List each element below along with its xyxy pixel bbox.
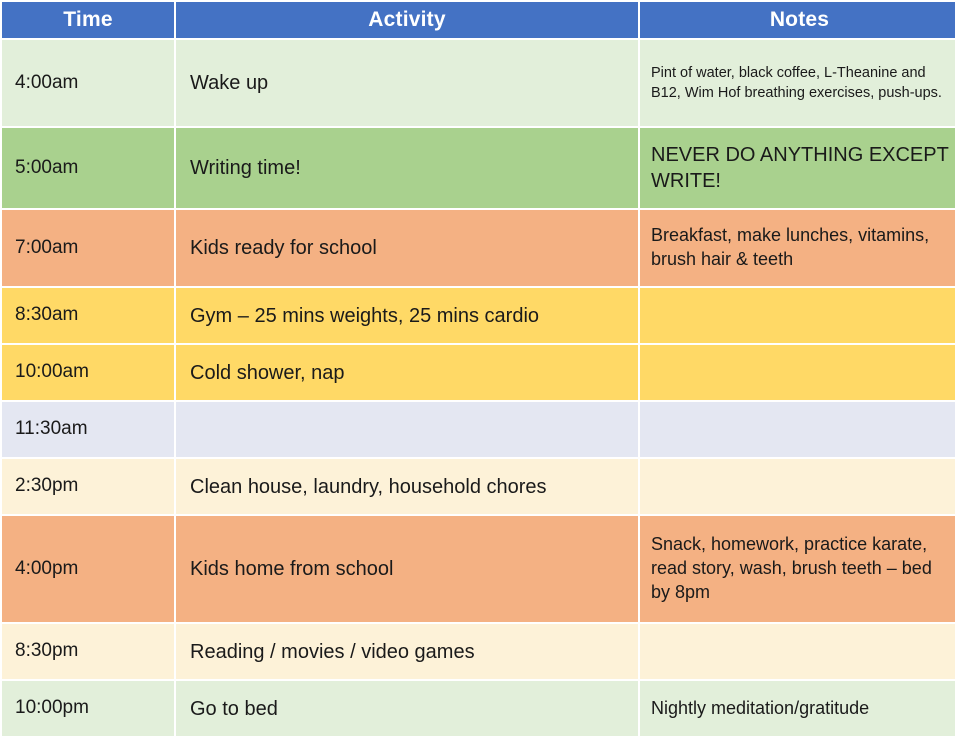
- table-row: 11:30am: [2, 402, 955, 457]
- table-row: 10:00pm Go to bed Nightly meditation/gra…: [2, 681, 955, 736]
- table-body: 4:00am Wake up Pint of water, black coff…: [2, 40, 955, 736]
- cell-notes: [640, 345, 955, 400]
- cell-notes: Snack, homework, practice karate, read s…: [640, 516, 955, 622]
- cell-notes: Nightly meditation/gratitude: [640, 681, 955, 736]
- cell-time: 4:00am: [2, 40, 174, 126]
- cell-activity: Kids home from school: [176, 516, 638, 622]
- cell-notes: [640, 288, 955, 343]
- cell-time: 2:30pm: [2, 459, 174, 514]
- table-row: 4:00pm Kids home from school Snack, home…: [2, 516, 955, 622]
- table-row: 8:30pm Reading / movies / video games: [2, 624, 955, 679]
- column-header-time: Time: [2, 2, 174, 38]
- table-header: Time Activity Notes: [2, 2, 955, 38]
- cell-time: 10:00pm: [2, 681, 174, 736]
- header-row: Time Activity Notes: [2, 2, 955, 38]
- cell-notes: NEVER DO ANYTHING EXCEPT WRITE!: [640, 128, 955, 208]
- cell-activity: Wake up: [176, 40, 638, 126]
- table-row: 7:00am Kids ready for school Breakfast, …: [2, 210, 955, 286]
- cell-notes: [640, 402, 955, 457]
- daily-schedule-table: Time Activity Notes 4:00am Wake up Pint …: [0, 0, 955, 738]
- table-row: 4:00am Wake up Pint of water, black coff…: [2, 40, 955, 126]
- cell-notes: [640, 624, 955, 679]
- table-row: 10:00am Cold shower, nap: [2, 345, 955, 400]
- table-row: 8:30am Gym – 25 mins weights, 25 mins ca…: [2, 288, 955, 343]
- column-header-notes: Notes: [640, 2, 955, 38]
- cell-time: 7:00am: [2, 210, 174, 286]
- cell-time: 4:00pm: [2, 516, 174, 622]
- cell-activity: Go to bed: [176, 681, 638, 736]
- cell-notes: Pint of water, black coffee, L-Theanine …: [640, 40, 955, 126]
- cell-notes: [640, 459, 955, 514]
- cell-time: 5:00am: [2, 128, 174, 208]
- table-row: 2:30pm Clean house, laundry, household c…: [2, 459, 955, 514]
- cell-activity: Clean house, laundry, household chores: [176, 459, 638, 514]
- cell-time: 8:30pm: [2, 624, 174, 679]
- cell-time: 11:30am: [2, 402, 174, 457]
- column-header-activity: Activity: [176, 2, 638, 38]
- cell-activity: Cold shower, nap: [176, 345, 638, 400]
- table-row: 5:00am Writing time! NEVER DO ANYTHING E…: [2, 128, 955, 208]
- cell-activity: Kids ready for school: [176, 210, 638, 286]
- cell-notes: Breakfast, make lunches, vitamins, brush…: [640, 210, 955, 286]
- cell-activity: Writing time!: [176, 128, 638, 208]
- cell-time: 10:00am: [2, 345, 174, 400]
- cell-time: 8:30am: [2, 288, 174, 343]
- cell-activity: Gym – 25 mins weights, 25 mins cardio: [176, 288, 638, 343]
- cell-activity: [176, 402, 638, 457]
- cell-activity: Reading / movies / video games: [176, 624, 638, 679]
